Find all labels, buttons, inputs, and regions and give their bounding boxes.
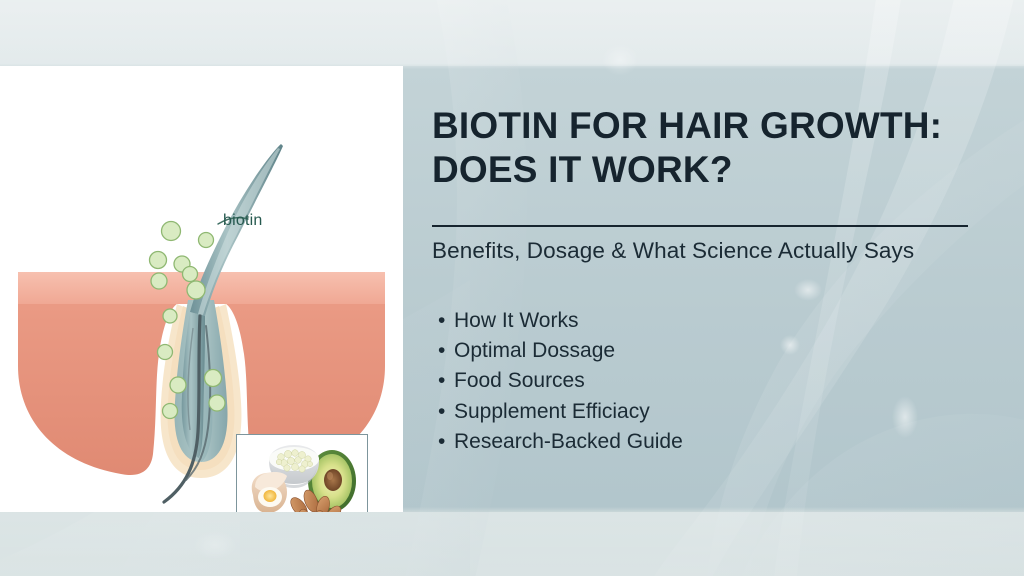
list-item: •How It Works [438, 306, 990, 336]
bullet-marker: • [438, 427, 445, 457]
text-content: Biotin for Hair Growth: Does It Work? Be… [432, 0, 992, 576]
bullet-list: •How It Works •Optimal Dossage •Food Sou… [438, 306, 990, 457]
title-divider [432, 225, 968, 227]
biotin-label: biotin [223, 212, 262, 230]
list-item-label: Food Sources [454, 369, 585, 392]
illustration-panel: biotin [0, 66, 403, 512]
list-item: •Optimal Dossage [438, 336, 990, 366]
list-item: •Supplement Efficiacy [438, 397, 990, 427]
bullet-marker: • [438, 336, 445, 366]
list-item-label: Research-Backed Guide [454, 430, 683, 453]
list-item: •Research-Backed Guide [438, 427, 990, 457]
slide-title: Biotin for Hair Growth: Does It Work? [432, 104, 984, 192]
cracked-egg [252, 472, 287, 512]
food-sources-inset: FOOD SOURCES [236, 434, 368, 512]
slide-root: biotin [0, 0, 1024, 576]
bullet-marker: • [438, 306, 445, 336]
list-item-label: How It Works [454, 309, 578, 332]
list-item-label: Supplement Efficiacy [454, 400, 650, 423]
list-item-label: Optimal Dossage [454, 339, 615, 362]
bullet-marker: • [438, 397, 445, 427]
list-item: •Food Sources [438, 366, 990, 396]
food-sources-illustration [237, 435, 368, 512]
bullet-marker: • [438, 366, 445, 396]
food-sources-image-box [236, 434, 368, 512]
slide-subtitle: Benefits, Dosage & What Science Actually… [432, 236, 984, 266]
